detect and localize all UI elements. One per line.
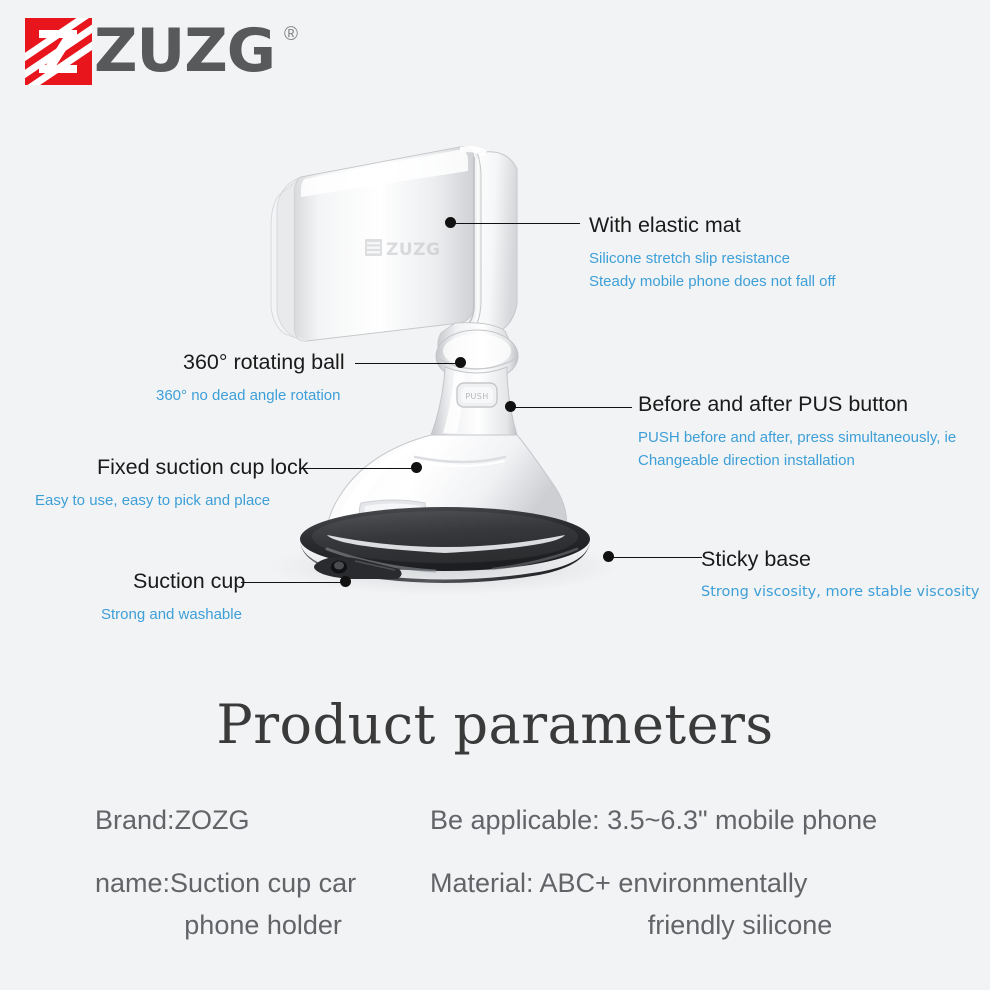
product-parameters: Brand:ZOZG name: Suction cup car phone h… bbox=[0, 800, 990, 947]
param-name: name: Suction cup car phone holder bbox=[95, 863, 430, 947]
leader-line-sticky-base bbox=[612, 557, 702, 558]
param-name-label: name: bbox=[95, 863, 170, 947]
callout-title-suction-cup: Suction cup bbox=[133, 570, 245, 594]
brand-wordmark: ZUZG bbox=[94, 18, 275, 85]
param-name-value-line1: Suction cup car bbox=[170, 863, 356, 905]
param-applicable: Be applicable: 3.5~6.3" mobile phone bbox=[430, 800, 990, 842]
param-material-line1: Material: ABC+ environmentally bbox=[430, 863, 990, 905]
callout-title-sticky-base: Sticky base bbox=[701, 548, 979, 572]
leader-line-pus-button bbox=[514, 407, 632, 408]
callout-title-pus-button: Before and after PUS button bbox=[638, 393, 956, 417]
leader-line-elastic-mat bbox=[455, 223, 580, 224]
section-title-product-parameters: Product parameters bbox=[0, 693, 990, 756]
zuzg-logo-mark-icon bbox=[25, 18, 92, 85]
registered-trademark-icon: ® bbox=[284, 24, 298, 46]
callout-sub-elastic-mat-1: Silicone stretch slip resistance bbox=[589, 247, 836, 270]
callout-sub-pus-button-2: Changeable direction installation bbox=[638, 449, 956, 472]
callout-sub-suction-cup-1: Strong and washable bbox=[101, 603, 245, 626]
callout-sub-suction-cup-lock-1: Easy to use, easy to pick and place bbox=[35, 489, 309, 512]
push-button-detail: PUSH bbox=[457, 383, 497, 407]
callout-sub-rotating-ball-1: 360° no dead angle rotation bbox=[156, 384, 345, 407]
leader-line-suction-cup bbox=[241, 582, 344, 583]
leader-line-suction-cup-lock bbox=[299, 468, 414, 469]
param-material: Material: ABC+ environmentally friendly … bbox=[430, 863, 990, 947]
brand-logo: ZUZG ® bbox=[25, 18, 298, 85]
svg-text:PUSH: PUSH bbox=[465, 392, 488, 401]
callout-title-elastic-mat: With elastic mat bbox=[589, 214, 836, 238]
param-brand-value: ZOZG bbox=[175, 805, 250, 835]
param-name-value-line2: phone holder bbox=[170, 905, 356, 947]
param-brand-label: Brand: bbox=[95, 800, 175, 842]
param-brand: Brand:ZOZG bbox=[95, 800, 430, 842]
callout-title-suction-cup-lock: Fixed suction cup lock bbox=[97, 456, 309, 480]
callout-title-rotating-ball: 360° rotating ball bbox=[183, 351, 345, 375]
leader-line-rotating-ball bbox=[355, 363, 458, 364]
svg-text:ZUZG: ZUZG bbox=[386, 240, 440, 260]
callout-sub-sticky-base-1: Strong viscosity, more stable viscosity bbox=[701, 581, 979, 603]
callout-sub-elastic-mat-2: Steady mobile phone does not fall off bbox=[589, 270, 836, 293]
infographic-page: ZUZG ® bbox=[0, 0, 990, 990]
callout-sub-pus-button-1: PUSH before and after, press simultaneou… bbox=[638, 426, 956, 449]
param-material-line2: friendly silicone bbox=[430, 905, 990, 947]
